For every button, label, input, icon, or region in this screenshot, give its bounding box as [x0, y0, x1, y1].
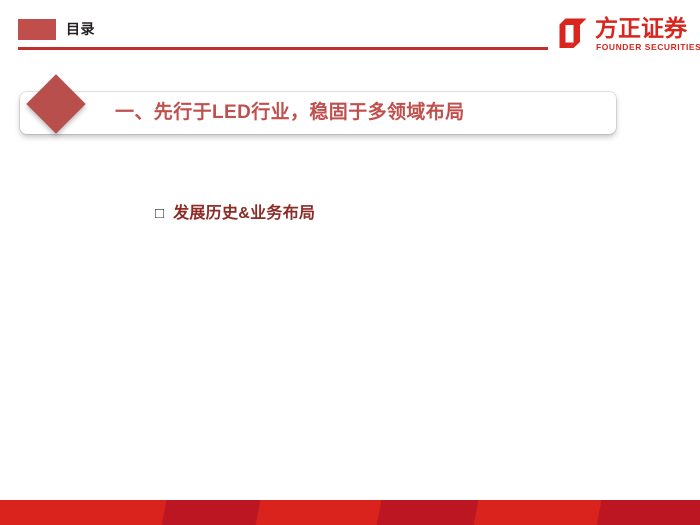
slide-body: □ 发展历史&业务布局	[0, 150, 700, 480]
footer-stripe-band	[375, 500, 487, 525]
slide-canvas: 目录 方正证券 FOUNDER SECURITIES 一、先行于LED行业，稳固…	[0, 0, 700, 525]
list-item-label: 发展历史&业务布局	[173, 202, 315, 226]
footer-stripe-band	[595, 500, 700, 525]
footer-stripe-band	[160, 500, 269, 525]
section-title: 一、先行于LED行业，稳固于多领域布局	[115, 96, 465, 130]
header-accent-chip	[18, 19, 56, 40]
brand-name-cn: 方正证券	[595, 14, 687, 42]
footer-stripe-band	[254, 500, 390, 525]
square-bullet-icon: □	[155, 202, 164, 226]
header-divider-rule	[18, 47, 548, 50]
footer-stripe-band	[0, 500, 176, 525]
list-item[interactable]: □ 发展历史&业务布局	[155, 202, 315, 226]
footer-stripe	[0, 500, 700, 525]
brand-name-en: FOUNDER SECURITIES	[596, 42, 700, 52]
founder-securities-cube-logo-icon	[557, 16, 589, 48]
brand-logo: 方正证券 FOUNDER SECURITIES	[557, 14, 693, 58]
footer-stripe-band	[472, 500, 610, 525]
header-label: 目录	[66, 19, 95, 40]
